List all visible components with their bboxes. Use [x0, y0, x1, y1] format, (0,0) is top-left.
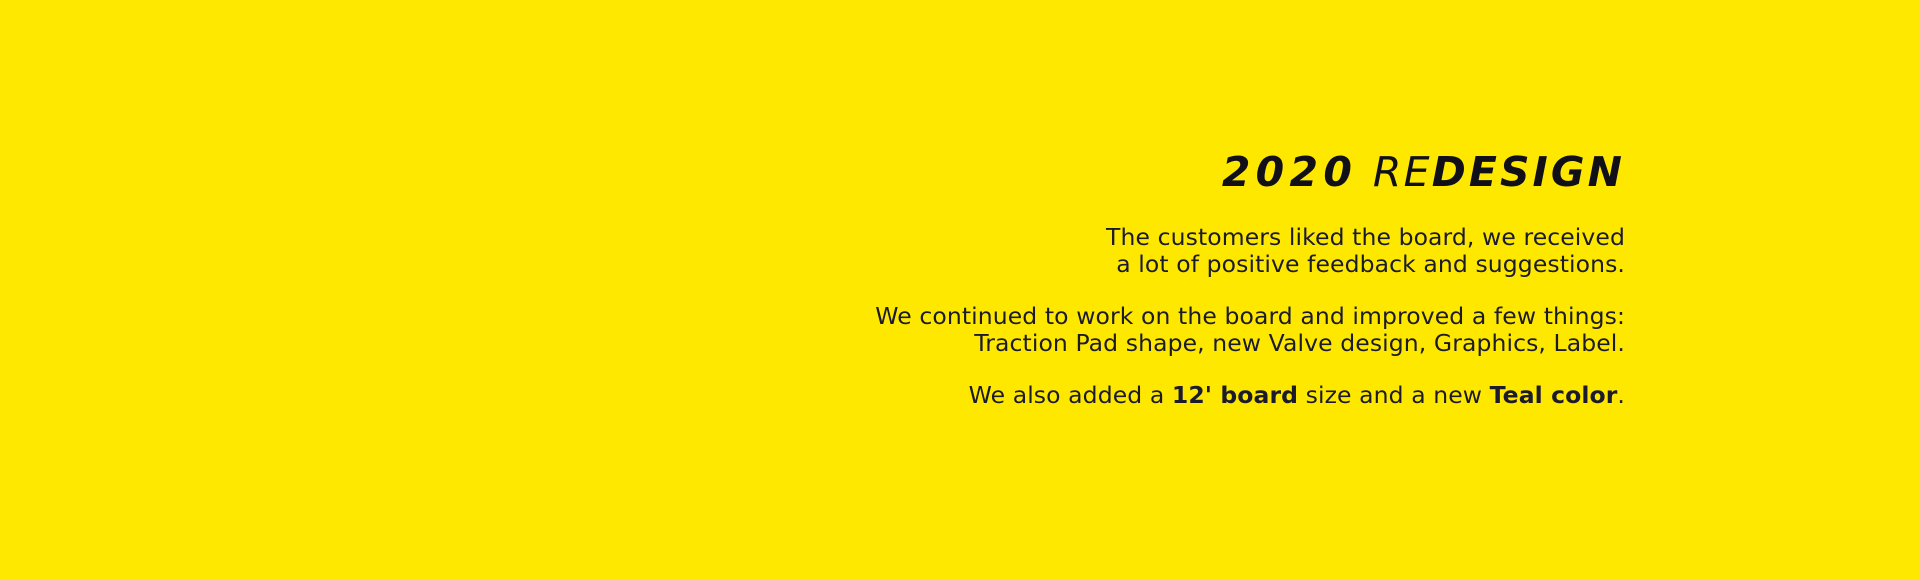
- paragraph-improvements: We continued to work on the board and im…: [865, 303, 1625, 356]
- paragraph-line: We continued to work on the board and im…: [865, 303, 1625, 330]
- slide-canvas: 2020REDESIGN The customers liked the boa…: [0, 0, 1920, 580]
- additions-mid: size and a new: [1298, 381, 1490, 409]
- paragraph-additions: We also added a 12' board size and a new…: [865, 382, 1625, 409]
- paragraph-feedback: The customers liked the board, we receiv…: [865, 224, 1625, 277]
- additions-teal-color: Teal color: [1490, 381, 1618, 409]
- heading-re: RE: [1373, 148, 1432, 196]
- additions-board-size: 12' board: [1172, 381, 1298, 409]
- additions-intro: We also added a: [969, 381, 1172, 409]
- heading-design: DESIGN: [1432, 148, 1625, 196]
- paragraph-line: We also added a 12' board size and a new…: [865, 382, 1625, 409]
- page-title: 2020REDESIGN: [865, 150, 1625, 194]
- additions-period: .: [1617, 381, 1625, 409]
- paragraph-line: a lot of positive feedback and suggestio…: [865, 251, 1625, 278]
- heading-year: 2020: [1222, 148, 1357, 196]
- paragraph-line: The customers liked the board, we receiv…: [865, 224, 1625, 251]
- paragraph-line: Traction Pad shape, new Valve design, Gr…: [865, 330, 1625, 357]
- content-block: 2020REDESIGN The customers liked the boa…: [865, 150, 1625, 409]
